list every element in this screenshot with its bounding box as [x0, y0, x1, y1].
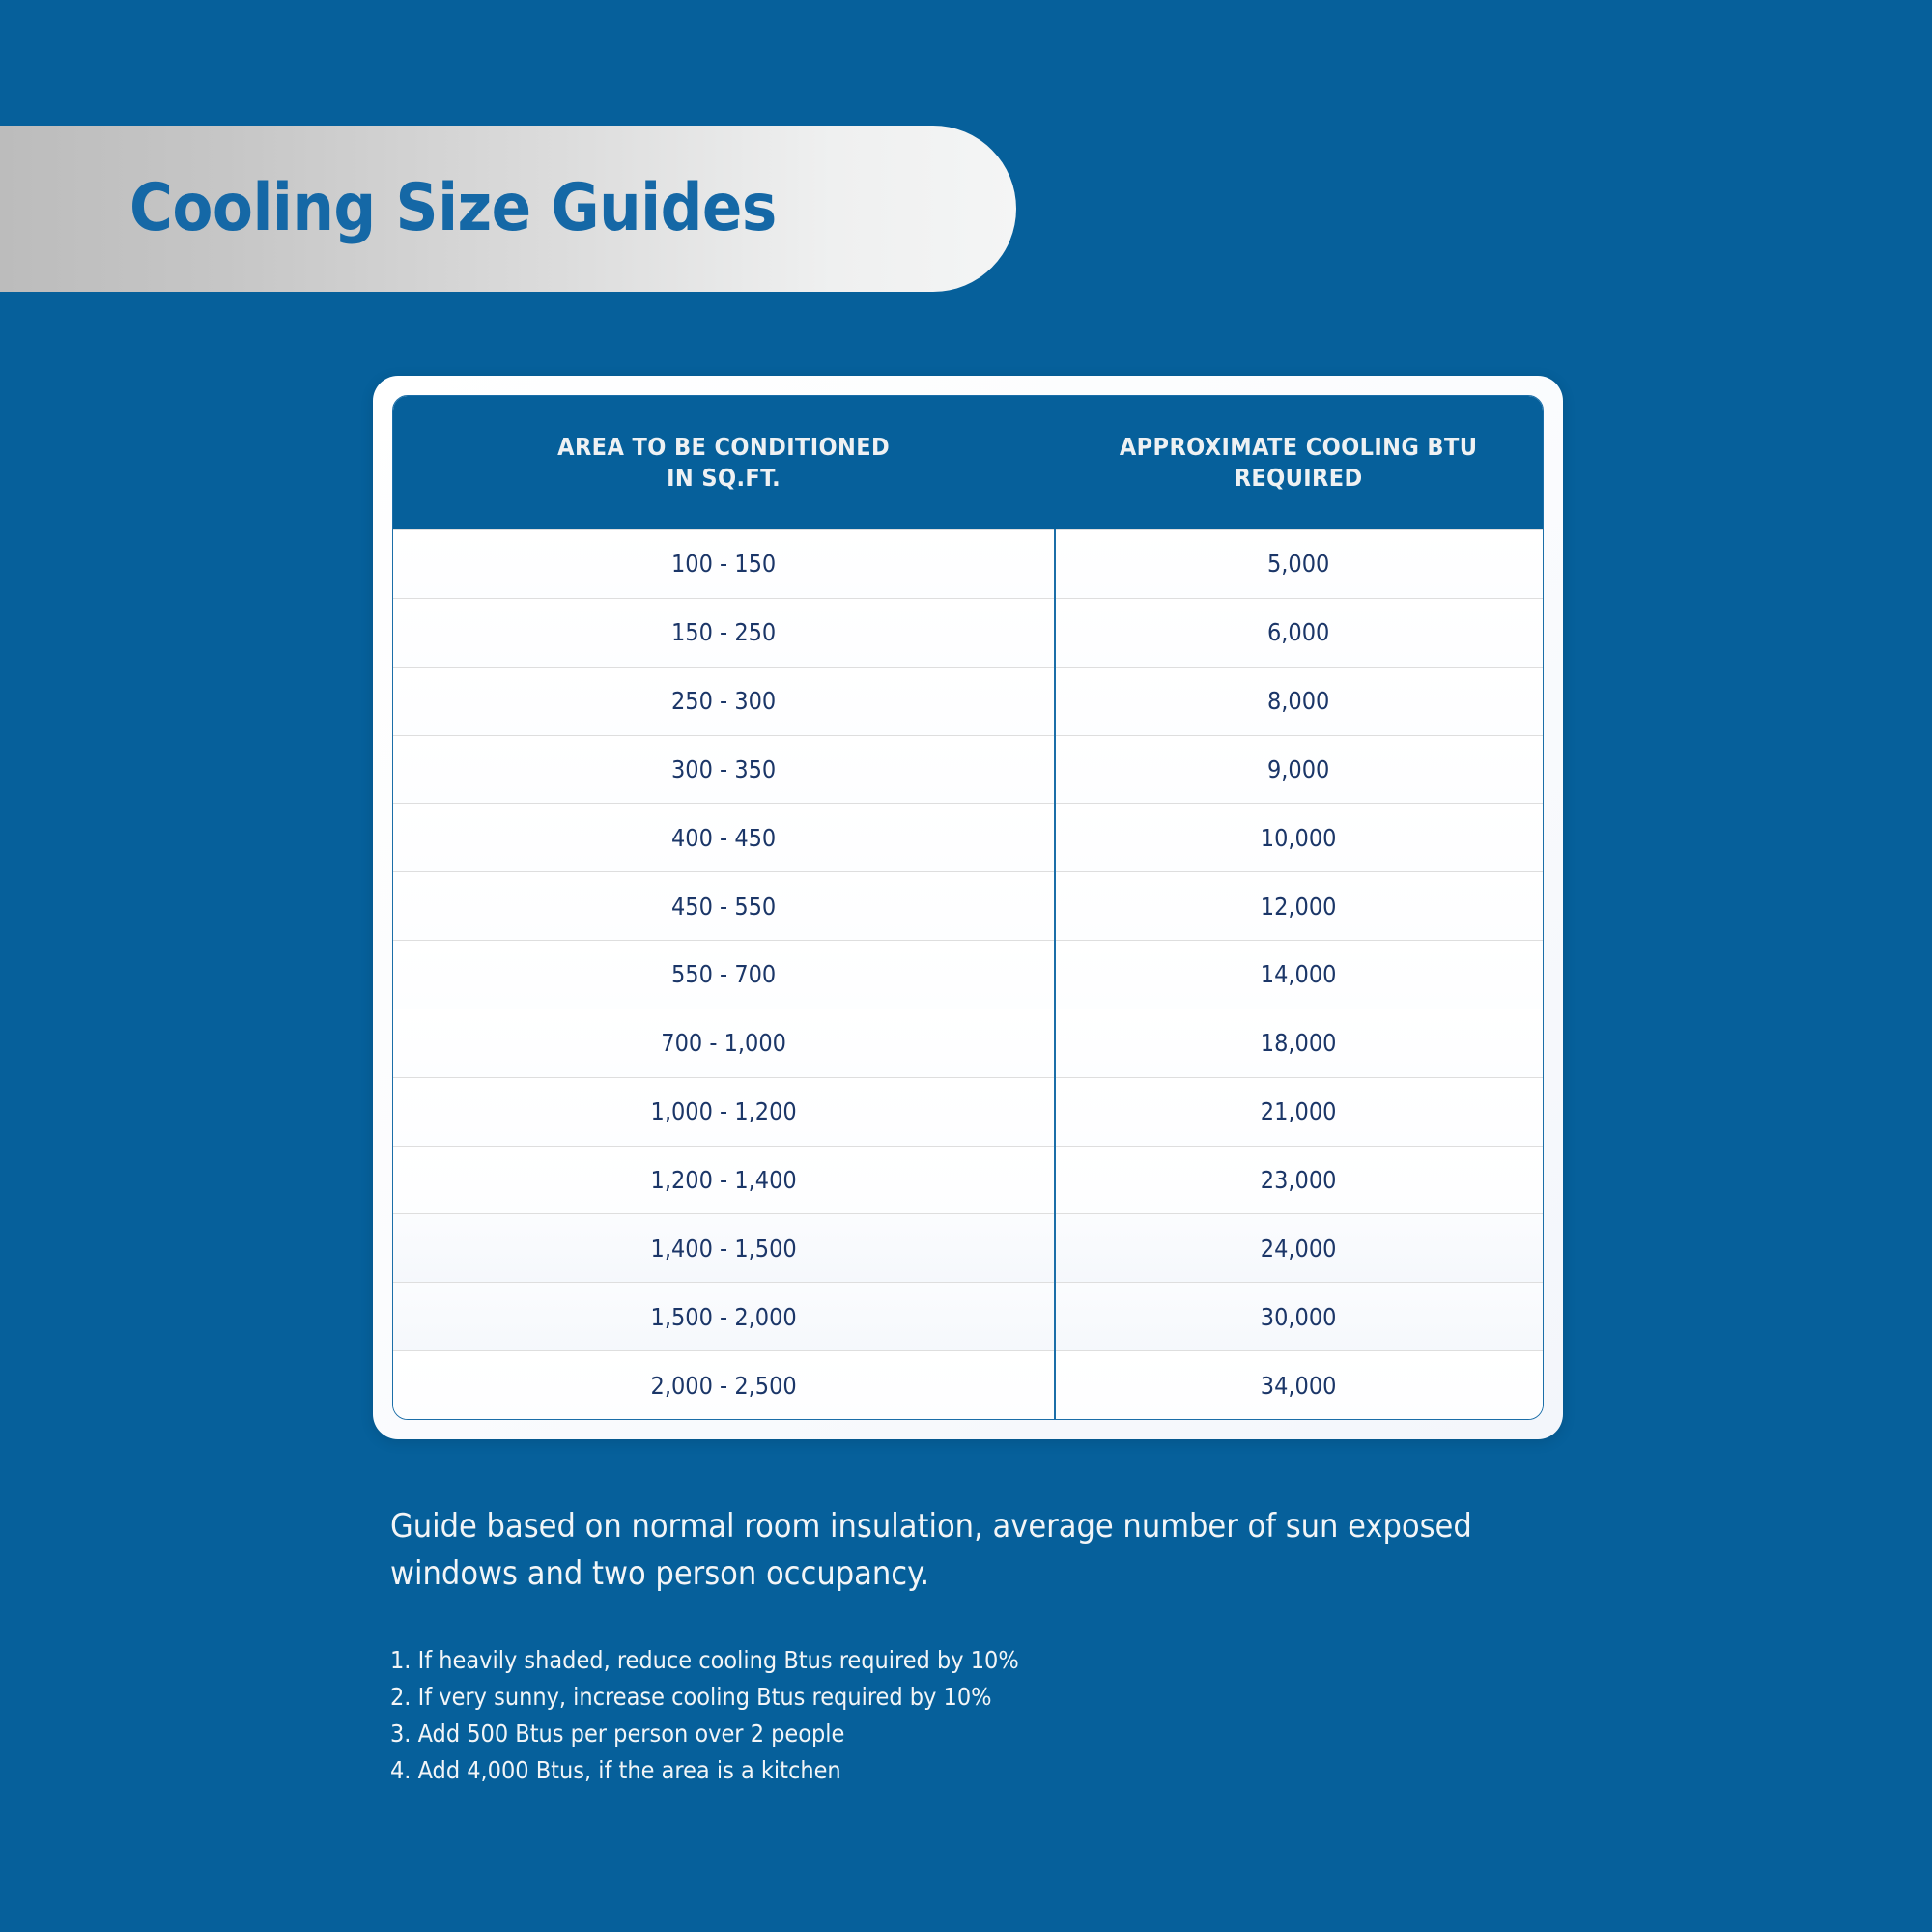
- footer-note: Guide based on normal room insulation, a…: [390, 1503, 1511, 1599]
- cell-btu: 9,000: [1054, 736, 1543, 804]
- cell-area: 700 - 1,000: [393, 1009, 1054, 1077]
- column-header-btu-line2: REQUIRED: [1235, 464, 1363, 492]
- table-row: 1,400 - 1,500 24,000: [393, 1213, 1543, 1282]
- cell-btu: 24,000: [1054, 1214, 1543, 1282]
- cell-area: 550 - 700: [393, 941, 1054, 1009]
- table-row: 700 - 1,000 18,000: [393, 1009, 1543, 1077]
- cell-area: 100 - 150: [393, 530, 1054, 598]
- table-row: 1,200 - 1,400 23,000: [393, 1146, 1543, 1214]
- cell-btu: 8,000: [1054, 668, 1543, 735]
- footer-notes-list: 1. If heavily shaded, reduce cooling Btu…: [390, 1642, 1511, 1789]
- footer-note-item: 2. If very sunny, increase cooling Btus …: [390, 1679, 1511, 1716]
- column-header-btu: APPROXIMATE COOLING BTU REQUIRED: [1054, 396, 1543, 529]
- table-header-row: AREA TO BE CONDITIONED IN SQ.FT. APPROXI…: [393, 396, 1543, 529]
- cell-area: 150 - 250: [393, 599, 1054, 667]
- table-row: 1,000 - 1,200 21,000: [393, 1077, 1543, 1146]
- table-row: 100 - 150 5,000: [393, 529, 1543, 598]
- cooling-size-table-card: AREA TO BE CONDITIONED IN SQ.FT. APPROXI…: [373, 376, 1563, 1439]
- title-banner: Cooling Size Guides: [0, 126, 1016, 292]
- column-header-area-line1: AREA TO BE CONDITIONED: [557, 433, 890, 461]
- cell-btu: 30,000: [1054, 1283, 1543, 1350]
- column-header-btu-line1: APPROXIMATE COOLING BTU: [1120, 433, 1478, 461]
- table-row: 150 - 250 6,000: [393, 598, 1543, 667]
- footer-note-item: 4. Add 4,000 Btus, if the area is a kitc…: [390, 1752, 1511, 1789]
- cell-area: 300 - 350: [393, 736, 1054, 804]
- cooling-size-table: AREA TO BE CONDITIONED IN SQ.FT. APPROXI…: [392, 395, 1544, 1420]
- cell-btu: 14,000: [1054, 941, 1543, 1009]
- column-divider: [1054, 529, 1056, 1419]
- cell-btu: 23,000: [1054, 1147, 1543, 1214]
- table-row: 2,000 - 2,500 34,000: [393, 1350, 1543, 1419]
- table-row: 400 - 450 10,000: [393, 803, 1543, 871]
- cell-area: 250 - 300: [393, 668, 1054, 735]
- table-row: 450 - 550 12,000: [393, 871, 1543, 940]
- cell-btu: 34,000: [1054, 1351, 1543, 1419]
- table-row: 550 - 700 14,000: [393, 940, 1543, 1009]
- cell-btu: 5,000: [1054, 530, 1543, 598]
- cell-btu: 18,000: [1054, 1009, 1543, 1077]
- cell-area: 450 - 550: [393, 872, 1054, 940]
- cell-area: 1,000 - 1,200: [393, 1078, 1054, 1146]
- page-title: Cooling Size Guides: [129, 176, 777, 241]
- cell-area: 1,400 - 1,500: [393, 1214, 1054, 1282]
- table-body: 100 - 150 5,000 150 - 250 6,000 250 - 30…: [393, 529, 1543, 1419]
- table-row: 1,500 - 2,000 30,000: [393, 1282, 1543, 1350]
- cell-area: 1,500 - 2,000: [393, 1283, 1054, 1350]
- cell-area: 2,000 - 2,500: [393, 1351, 1054, 1419]
- footer-note-item: 3. Add 500 Btus per person over 2 people: [390, 1716, 1511, 1752]
- table-row: 300 - 350 9,000: [393, 735, 1543, 804]
- cell-btu: 12,000: [1054, 872, 1543, 940]
- cell-area: 1,200 - 1,400: [393, 1147, 1054, 1214]
- cell-btu: 21,000: [1054, 1078, 1543, 1146]
- column-header-area-line2: IN SQ.FT.: [667, 464, 781, 492]
- cell-btu: 10,000: [1054, 804, 1543, 871]
- column-header-area: AREA TO BE CONDITIONED IN SQ.FT.: [393, 396, 1054, 529]
- footer-note-item: 1. If heavily shaded, reduce cooling Btu…: [390, 1642, 1511, 1679]
- table-row: 250 - 300 8,000: [393, 667, 1543, 735]
- cell-area: 400 - 450: [393, 804, 1054, 871]
- cell-btu: 6,000: [1054, 599, 1543, 667]
